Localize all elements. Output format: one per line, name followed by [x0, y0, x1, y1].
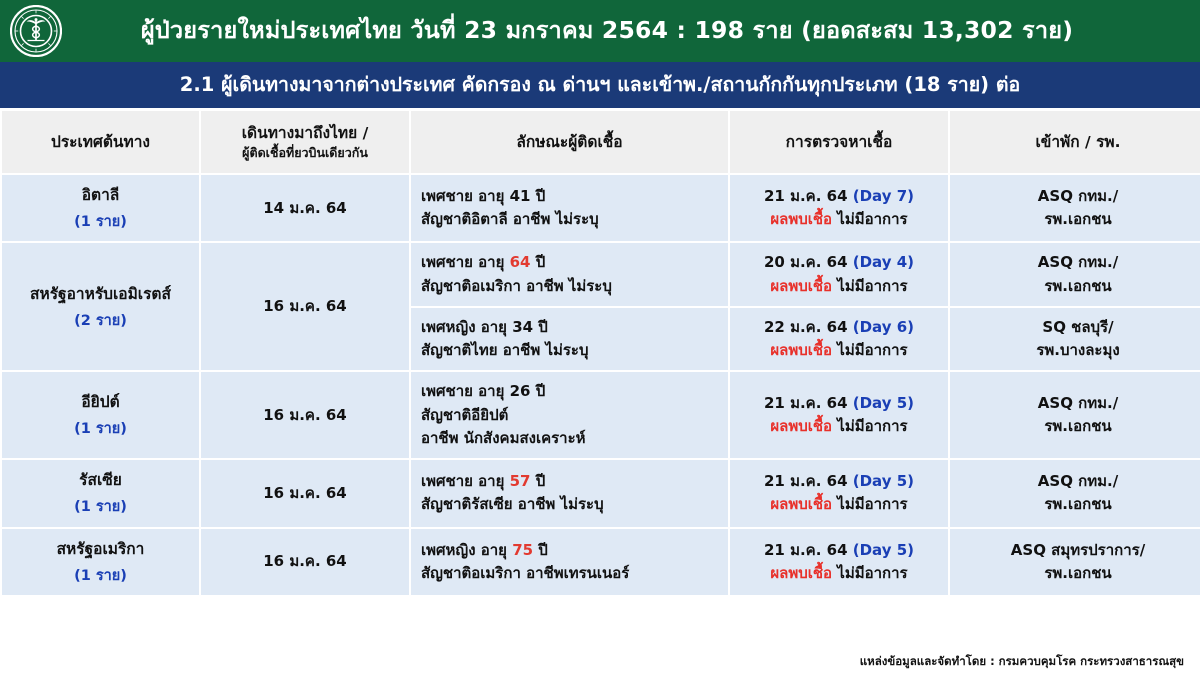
test-date-line: 22 ม.ค. 64 (Day 6): [740, 316, 938, 339]
lodging-facility: ASQ สมุทรปราการ/: [960, 539, 1196, 562]
case-age-unit: ปี: [533, 318, 548, 336]
footer: แหล่งข้อมูลและจัดทำโดย : กรมควบคุมโรค กร…: [0, 648, 1200, 675]
cell-arrival-date: 14 ม.ค. 64: [201, 175, 409, 241]
cell-arrival-date: 16 ม.ค. 64: [201, 529, 409, 595]
test-result-line: ผลพบเชื้อ ไม่มีอาการ: [740, 415, 938, 438]
test-date-line: 21 ม.ค. 64 (Day 5): [740, 392, 938, 415]
cell-testing: 21 ม.ค. 64 (Day 5)ผลพบเชื้อ ไม่มีอาการ: [730, 460, 948, 526]
column-header-case-profile: ลักษณะผู้ติดเชื้อ: [411, 111, 728, 173]
cases-table: ประเทศต้นทาง เดินทางมาถึงไทย / ผู้ติดเชื…: [0, 109, 1200, 597]
origin-country-name: สหรัฐอเมริกา: [12, 537, 189, 561]
table-container: ประเทศต้นทาง เดินทางมาถึงไทย / ผู้ติดเชื…: [0, 108, 1200, 648]
lodging-facility: ASQ กทม./: [960, 185, 1196, 208]
table-header-row: ประเทศต้นทาง เดินทางมาถึงไทย / ผู้ติดเชื…: [2, 111, 1200, 173]
cell-lodging-hospital: ASQ กทม./รพ.เอกชน: [950, 372, 1200, 458]
case-sex-label: เพศชาย อายุ: [421, 187, 510, 205]
test-symptom-status: ไม่มีอาการ: [832, 277, 908, 295]
cell-lodging-hospital: ASQ สมุทรปราการ/รพ.เอกชน: [950, 529, 1200, 595]
table-row: สหรัฐอาหรับเอมิเรตส์(2 ราย)16 ม.ค. 64เพศ…: [2, 243, 1200, 306]
test-date: 21 ม.ค. 64: [764, 394, 853, 412]
lodging-hospital: รพ.เอกชน: [960, 562, 1196, 585]
test-day-badge: (Day 6): [853, 318, 914, 336]
case-nationality-occupation: สัญชาติอเมริกา อาชีพ ไม่ระบุ: [421, 275, 718, 298]
origin-country-case-count: (2 ราย): [12, 310, 189, 332]
page-title: ผู้ป่วยรายใหม่ประเทศไทย วันที่ 23 มกราคม…: [64, 17, 1190, 44]
header-green-bar: ผู้ป่วยรายใหม่ประเทศไทย วันที่ 23 มกราคม…: [0, 0, 1200, 62]
origin-country-name: สหรัฐอาหรับเอมิเรตส์: [12, 282, 189, 306]
case-age-unit: ปี: [533, 541, 548, 559]
test-date-line: 21 ม.ค. 64 (Day 5): [740, 470, 938, 493]
column-header-lodging: เข้าพัก / รพ.: [950, 111, 1200, 173]
lodging-facility: ASQ กทม./: [960, 392, 1196, 415]
test-day-badge: (Day 7): [853, 187, 914, 205]
cell-lodging-hospital: ASQ กทม./รพ.เอกชน: [950, 460, 1200, 526]
cell-arrival-date: 16 ม.ค. 64: [201, 460, 409, 526]
lodging-hospital: รพ.บางละมุง: [960, 339, 1196, 362]
case-demographics: เพศชาย อายุ 64 ปี: [421, 251, 718, 274]
cell-case-profile: เพศชาย อายุ 26 ปีสัญชาติอียิปต์อาชีพ นัก…: [411, 372, 728, 458]
case-demographics: เพศหญิง อายุ 75 ปี: [421, 539, 718, 562]
test-date-line: 20 ม.ค. 64 (Day 4): [740, 251, 938, 274]
test-date-line: 21 ม.ค. 64 (Day 5): [740, 539, 938, 562]
test-result-line: ผลพบเชื้อ ไม่มีอาการ: [740, 493, 938, 516]
report-slide: ผู้ป่วยรายใหม่ประเทศไทย วันที่ 23 มกราคม…: [0, 0, 1200, 675]
cell-case-profile: เพศหญิง อายุ 34 ปีสัญชาติไทย อาชีพ ไม่ระ…: [411, 308, 728, 371]
case-demographics: เพศชาย อายุ 41 ปี: [421, 185, 718, 208]
test-day-badge: (Day 5): [853, 541, 914, 559]
cell-lodging-hospital: ASQ กทม./รพ.เอกชน: [950, 175, 1200, 241]
case-occupation-extra: อาชีพ นักสังคมสงเคราะห์: [421, 427, 718, 450]
test-day-badge: (Day 5): [853, 394, 914, 412]
lodging-hospital: รพ.เอกชน: [960, 415, 1196, 438]
cell-case-profile: เพศหญิง อายุ 75 ปีสัญชาติอเมริกา อาชีพเท…: [411, 529, 728, 595]
cell-origin-country: อิตาลี(1 ราย): [2, 175, 199, 241]
table-row: อียิปต์(1 ราย)16 ม.ค. 64เพศชาย อายุ 26 ป…: [2, 372, 1200, 458]
column-header-arrival-sublabel: ผู้ติดเชื้อที่ยวบินเดียวกัน: [207, 145, 403, 161]
section-subtitle: 2.1 ผู้เดินทางมาจากต่างประเทศ คัดกรอง ณ …: [180, 74, 1020, 96]
test-result-status-badge: ผลพบเชื้อ: [770, 564, 832, 582]
column-header-origin-country-label: ประเทศต้นทาง: [8, 132, 193, 152]
lodging-hospital: รพ.เอกชน: [960, 275, 1196, 298]
cell-testing: 21 ม.ค. 64 (Day 7)ผลพบเชื้อ ไม่มีอาการ: [730, 175, 948, 241]
cell-testing: 21 ม.ค. 64 (Day 5)ผลพบเชื้อ ไม่มีอาการ: [730, 529, 948, 595]
test-day-badge: (Day 4): [853, 253, 914, 271]
case-nationality-occupation: สัญชาติอียิปต์: [421, 404, 718, 427]
test-symptom-status: ไม่มีอาการ: [832, 341, 908, 359]
test-result-line: ผลพบเชื้อ ไม่มีอาการ: [740, 562, 938, 585]
case-age-value: 75: [512, 541, 533, 559]
case-nationality-occupation: สัญชาติอิตาลี อาชีพ ไม่ระบุ: [421, 208, 718, 231]
origin-country-case-count: (1 ราย): [12, 211, 189, 233]
case-demographics: เพศชาย อายุ 26 ปี: [421, 380, 718, 403]
cell-arrival-date: 16 ม.ค. 64: [201, 243, 409, 370]
test-date: 22 ม.ค. 64: [764, 318, 853, 336]
case-age-value: 41: [510, 187, 531, 205]
ministry-of-public-health-seal-icon: [8, 3, 64, 59]
cases-table-body: อิตาลี(1 ราย)14 ม.ค. 64เพศชาย อายุ 41 ปี…: [2, 175, 1200, 595]
case-age-value: 57: [510, 472, 531, 490]
lodging-facility: SQ ชลบุรี/: [960, 316, 1196, 339]
test-date-line: 21 ม.ค. 64 (Day 7): [740, 185, 938, 208]
cell-origin-country: รัสเซีย(1 ราย): [2, 460, 199, 526]
column-header-arrival-label: เดินทางมาถึงไทย /: [207, 123, 403, 143]
case-age-unit: ปี: [530, 187, 545, 205]
case-nationality-occupation: สัญชาติอเมริกา อาชีพเทรนเนอร์: [421, 562, 718, 585]
test-symptom-status: ไม่มีอาการ: [832, 495, 908, 513]
test-result-status-badge: ผลพบเชื้อ: [770, 277, 832, 295]
cell-case-profile: เพศชาย อายุ 64 ปีสัญชาติอเมริกา อาชีพ ไม…: [411, 243, 728, 306]
case-sex-label: เพศหญิง อายุ: [421, 541, 512, 559]
cell-origin-country: สหรัฐอเมริกา(1 ราย): [2, 529, 199, 595]
cell-testing: 20 ม.ค. 64 (Day 4)ผลพบเชื้อ ไม่มีอาการ: [730, 243, 948, 306]
test-date: 21 ม.ค. 64: [764, 187, 853, 205]
column-header-arrival: เดินทางมาถึงไทย / ผู้ติดเชื้อที่ยวบินเดี…: [201, 111, 409, 173]
origin-country-name: รัสเซีย: [12, 468, 189, 492]
case-nationality-occupation: สัญชาติไทย อาชีพ ไม่ระบุ: [421, 339, 718, 362]
cell-testing: 22 ม.ค. 64 (Day 6)ผลพบเชื้อ ไม่มีอาการ: [730, 308, 948, 371]
header-blue-bar: 2.1 ผู้เดินทางมาจากต่างประเทศ คัดกรอง ณ …: [0, 62, 1200, 108]
cell-origin-country: สหรัฐอาหรับเอมิเรตส์(2 ราย): [2, 243, 199, 370]
case-age-value: 26: [510, 382, 531, 400]
origin-country-name: อิตาลี: [12, 183, 189, 207]
table-row: สหรัฐอเมริกา(1 ราย)16 ม.ค. 64เพศหญิง อาย…: [2, 529, 1200, 595]
case-age-unit: ปี: [530, 382, 545, 400]
test-symptom-status: ไม่มีอาการ: [832, 564, 908, 582]
case-age-value: 34: [512, 318, 533, 336]
test-result-status-badge: ผลพบเชื้อ: [770, 210, 832, 228]
test-symptom-status: ไม่มีอาการ: [832, 417, 908, 435]
lodging-hospital: รพ.เอกชน: [960, 493, 1196, 516]
cell-lodging-hospital: ASQ กทม./รพ.เอกชน: [950, 243, 1200, 306]
table-row: อิตาลี(1 ราย)14 ม.ค. 64เพศชาย อายุ 41 ปี…: [2, 175, 1200, 241]
test-date: 21 ม.ค. 64: [764, 472, 853, 490]
test-result-line: ผลพบเชื้อ ไม่มีอาการ: [740, 275, 938, 298]
cell-testing: 21 ม.ค. 64 (Day 5)ผลพบเชื้อ ไม่มีอาการ: [730, 372, 948, 458]
case-demographics: เพศหญิง อายุ 34 ปี: [421, 316, 718, 339]
case-sex-label: เพศหญิง อายุ: [421, 318, 512, 336]
case-sex-label: เพศชาย อายุ: [421, 253, 510, 271]
column-header-case-profile-label: ลักษณะผู้ติดเชื้อ: [417, 132, 722, 152]
test-symptom-status: ไม่มีอาการ: [832, 210, 908, 228]
column-header-lodging-label: เข้าพัก / รพ.: [956, 132, 1200, 152]
table-row: รัสเซีย(1 ราย)16 ม.ค. 64เพศชาย อายุ 57 ป…: [2, 460, 1200, 526]
lodging-facility: ASQ กทม./: [960, 251, 1196, 274]
test-date: 21 ม.ค. 64: [764, 541, 853, 559]
origin-country-case-count: (1 ราย): [12, 565, 189, 587]
lodging-facility: ASQ กทม./: [960, 470, 1196, 493]
test-result-status-badge: ผลพบเชื้อ: [770, 417, 832, 435]
case-demographics: เพศชาย อายุ 57 ปี: [421, 470, 718, 493]
case-nationality-occupation: สัญชาติรัสเซีย อาชีพ ไม่ระบุ: [421, 493, 718, 516]
cell-lodging-hospital: SQ ชลบุรี/รพ.บางละมุง: [950, 308, 1200, 371]
test-day-badge: (Day 5): [853, 472, 914, 490]
case-sex-label: เพศชาย อายุ: [421, 382, 510, 400]
test-result-status-badge: ผลพบเชื้อ: [770, 495, 832, 513]
cell-arrival-date: 16 ม.ค. 64: [201, 372, 409, 458]
case-sex-label: เพศชาย อายุ: [421, 472, 510, 490]
test-result-status-badge: ผลพบเชื้อ: [770, 341, 832, 359]
source-credit: แหล่งข้อมูลและจัดทำโดย : กรมควบคุมโรค กร…: [860, 653, 1184, 671]
cell-case-profile: เพศชาย อายุ 41 ปีสัญชาติอิตาลี อาชีพ ไม่…: [411, 175, 728, 241]
cell-origin-country: อียิปต์(1 ราย): [2, 372, 199, 458]
column-header-testing: การตรวจหาเชื้อ: [730, 111, 948, 173]
origin-country-name: อียิปต์: [12, 390, 189, 414]
test-result-line: ผลพบเชื้อ ไม่มีอาการ: [740, 339, 938, 362]
cell-case-profile: เพศชาย อายุ 57 ปีสัญชาติรัสเซีย อาชีพ ไม…: [411, 460, 728, 526]
test-date: 20 ม.ค. 64: [764, 253, 853, 271]
column-header-testing-label: การตรวจหาเชื้อ: [736, 132, 942, 152]
case-age-unit: ปี: [530, 472, 545, 490]
lodging-hospital: รพ.เอกชน: [960, 208, 1196, 231]
case-age-unit: ปี: [530, 253, 545, 271]
origin-country-case-count: (1 ราย): [12, 418, 189, 440]
column-header-origin-country: ประเทศต้นทาง: [2, 111, 199, 173]
origin-country-case-count: (1 ราย): [12, 496, 189, 518]
test-result-line: ผลพบเชื้อ ไม่มีอาการ: [740, 208, 938, 231]
case-age-value: 64: [510, 253, 531, 271]
